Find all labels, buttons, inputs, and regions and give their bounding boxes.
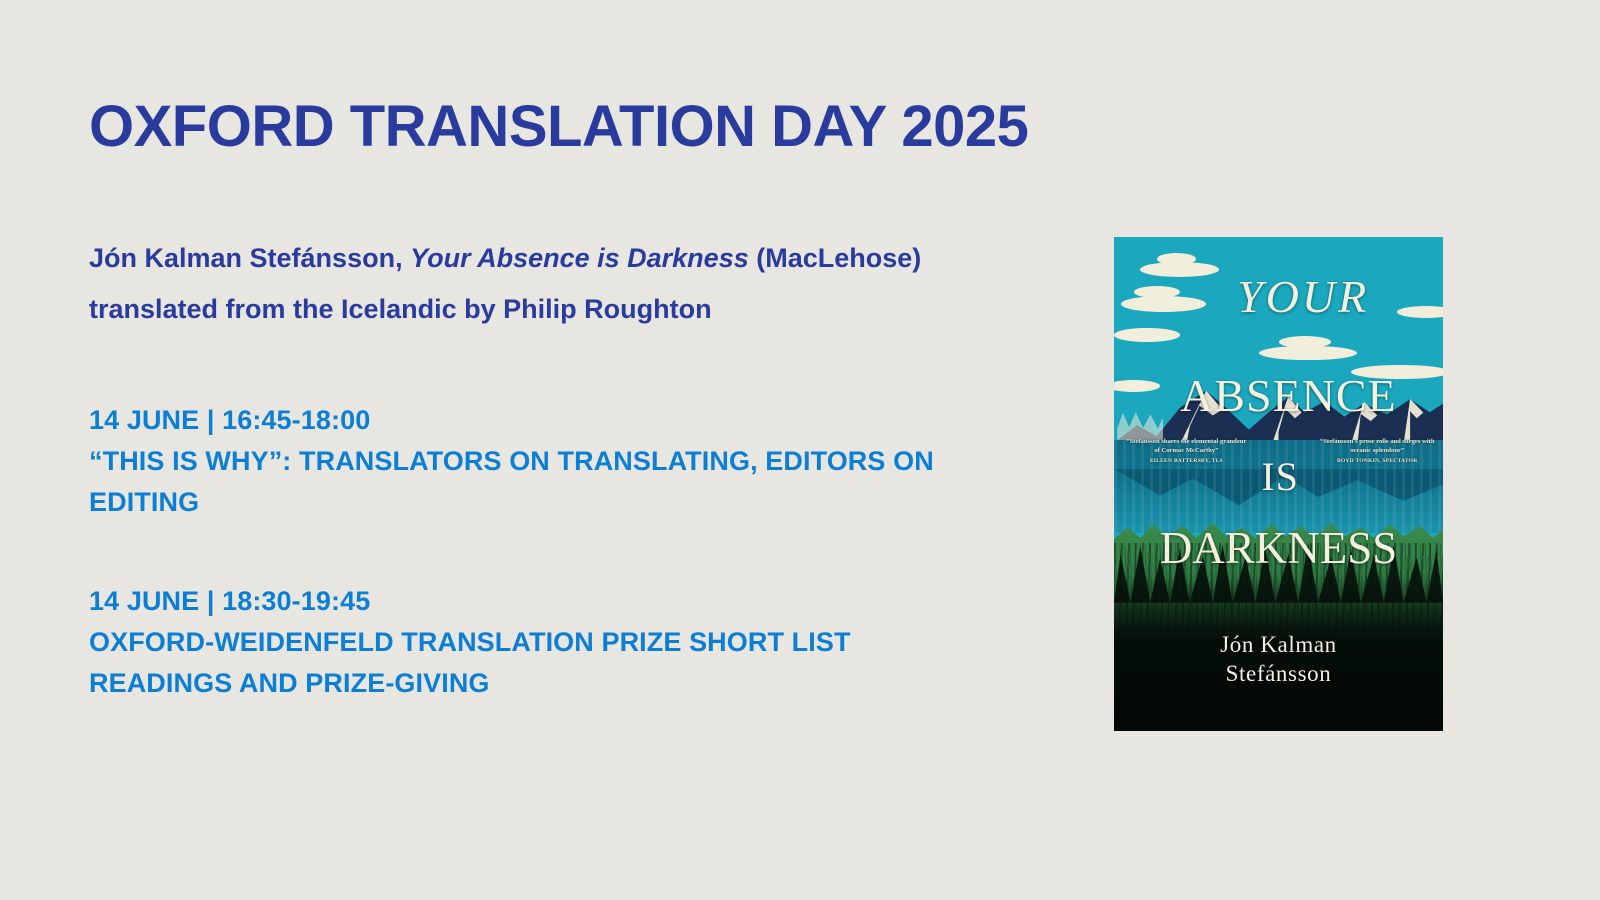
event-1-datetime: 14 JUNE | 16:45-18:00	[89, 400, 989, 441]
book-cover-image: YOUR ABSENCE IS DARKNESS “Stefánsson sha…	[1114, 237, 1443, 731]
event-2-datetime: 14 JUNE | 18:30-19:45	[89, 581, 989, 622]
cover-blurb-right-source: BOYD TONKIN, Spectator	[1316, 457, 1438, 465]
page-title: OXFORD TRANSLATION DAY 2025	[89, 93, 1028, 160]
event-listing-2: 14 JUNE | 18:30-19:45 OXFORD-WEIDENFELD …	[89, 581, 989, 704]
cover-title-word-darkness: DARKNESS	[1114, 526, 1443, 571]
cover-blurb-left: “Stefánsson shares the elemental grandeu…	[1126, 437, 1248, 465]
cover-blurb-left-source: EILEEN BATTERSBY, TLS	[1126, 457, 1248, 465]
cover-author-line-1: Jón Kalman	[1114, 630, 1443, 659]
book-credit-line: Jón Kalman Stefánsson, Your Absence is D…	[89, 233, 959, 335]
cover-author-line-2: Stefánsson	[1114, 659, 1443, 688]
event-1-title: “THIS IS WHY”: TRANSLATORS ON TRANSLATIN…	[89, 441, 989, 523]
cover-blurb-left-quote: “Stefánsson shares the elemental grandeu…	[1126, 438, 1246, 455]
cover-blurb-right-quote: “Stefánsson's prose rolls and surges wit…	[1320, 438, 1435, 455]
cover-author-name: Jón KalmanStefánsson	[1114, 630, 1443, 689]
cover-blurb-right: “Stefánsson's prose rolls and surges wit…	[1316, 437, 1438, 465]
event-listing-1: 14 JUNE | 16:45-18:00 “THIS IS WHY”: TRA…	[89, 400, 989, 523]
event-2-title: OXFORD-WEIDENFELD TRANSLATION PRIZE SHOR…	[89, 622, 989, 704]
cover-cloud-icon	[1279, 336, 1332, 348]
cover-title-word-absence: ABSENCE	[1114, 373, 1443, 419]
book-credit-author: Jón Kalman Stefánsson,	[89, 243, 410, 273]
cover-title-word-your: YOUR	[1114, 274, 1443, 320]
book-credit-title: Your Absence is Darkness	[410, 243, 749, 273]
poster-canvas: OXFORD TRANSLATION DAY 2025 Jón Kalman S…	[0, 0, 1600, 900]
cover-cloud-icon	[1157, 253, 1196, 265]
